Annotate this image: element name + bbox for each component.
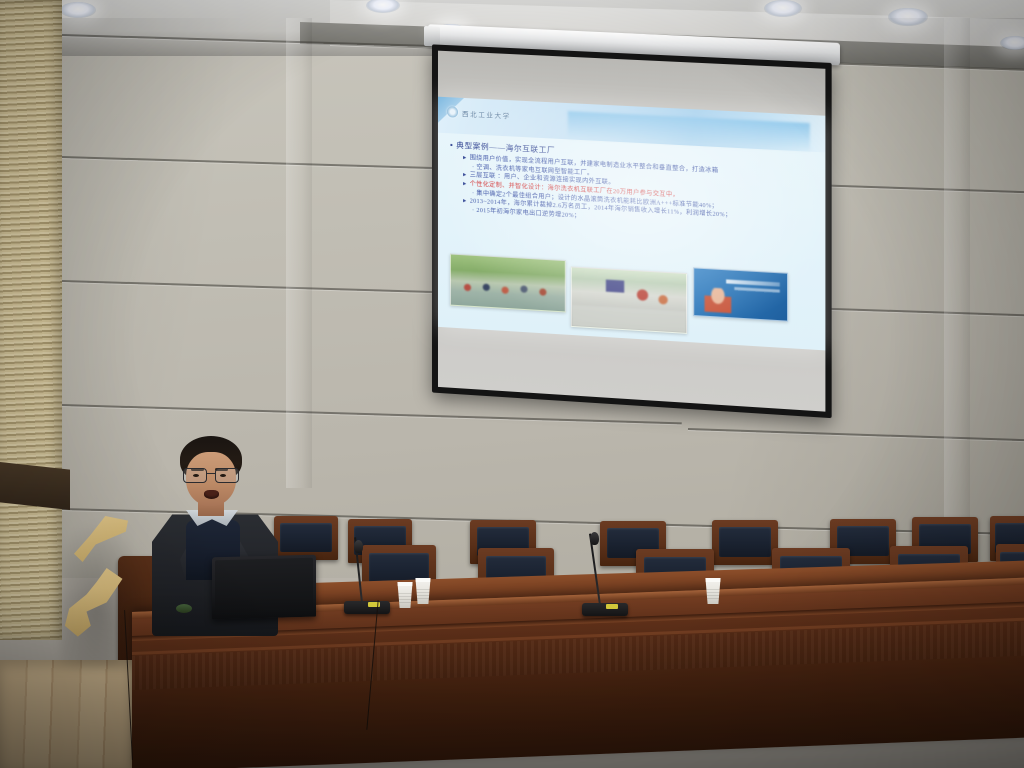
microphone-base	[582, 603, 628, 616]
conference-room-photo: 西北工业大学 ▪典型案例——海尔互联工厂 ►围绕用户价值，实现全流程用户互联，并…	[0, 0, 1024, 768]
eye-left	[193, 474, 199, 477]
gooseneck-microphone	[344, 534, 394, 614]
hammer-and-sickle-emblem	[62, 516, 140, 666]
laptop	[212, 555, 316, 620]
hammer-shape-icon	[74, 516, 128, 562]
chair-back-pad	[719, 527, 772, 557]
microphone-head	[354, 540, 363, 553]
presenter-mouth	[204, 490, 219, 499]
eye-right	[220, 474, 226, 477]
cup-ridges	[706, 588, 720, 599]
sickle-shape-icon	[62, 568, 134, 646]
glasses-lens-right	[215, 468, 239, 483]
gooseneck-microphone	[582, 530, 632, 616]
furniture-layer	[0, 0, 1024, 768]
conference-chair	[712, 520, 778, 565]
cup-ridges	[416, 588, 430, 599]
microphone-base	[344, 601, 390, 614]
mouse-pointer-device	[176, 604, 192, 613]
microphone-label	[606, 604, 618, 609]
cup-ridges	[398, 592, 412, 603]
microphone-head	[590, 532, 599, 545]
glasses-icon	[182, 468, 240, 482]
